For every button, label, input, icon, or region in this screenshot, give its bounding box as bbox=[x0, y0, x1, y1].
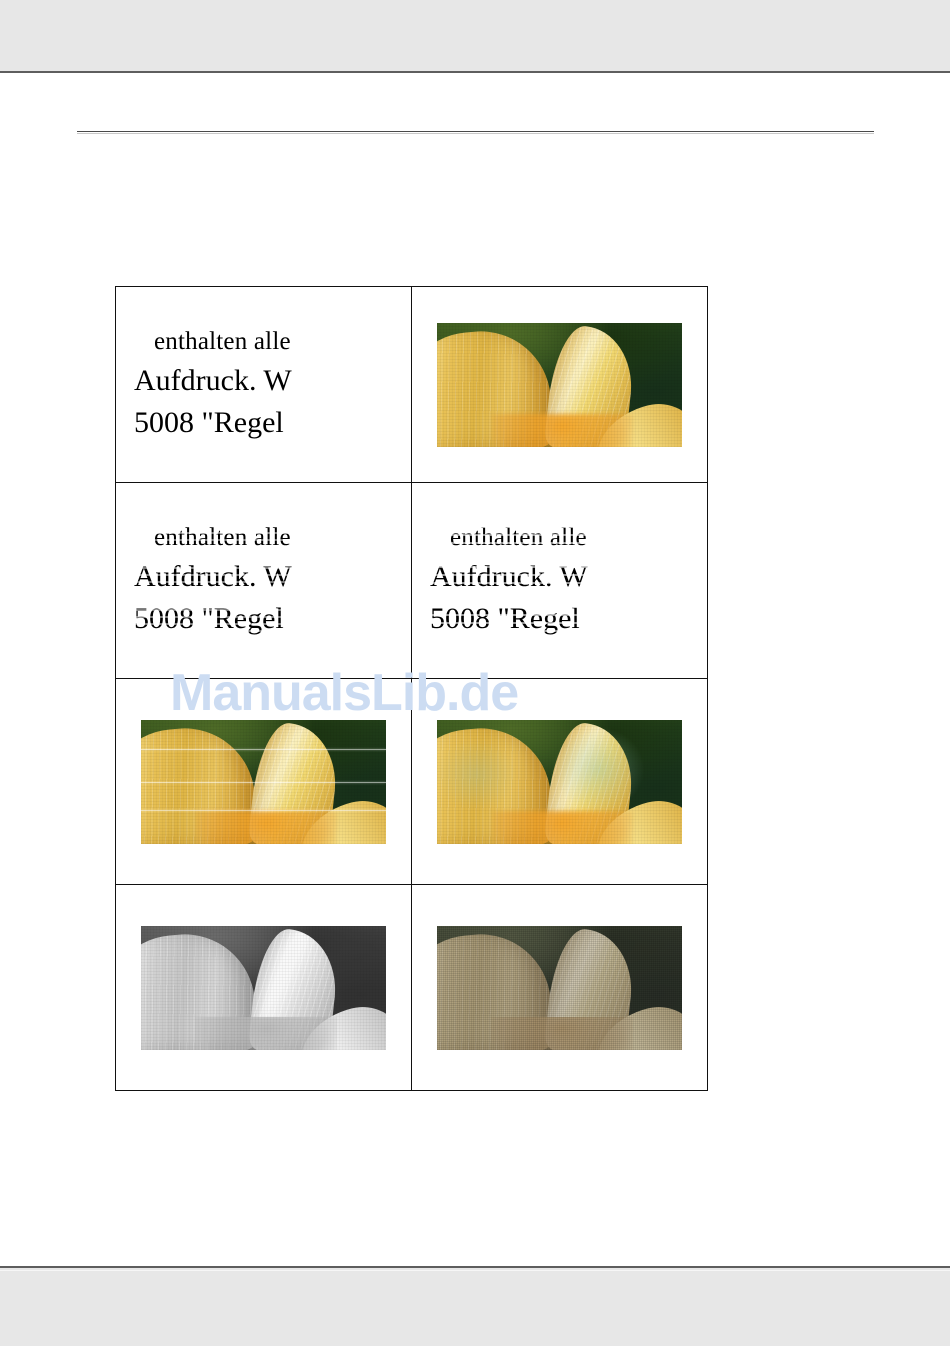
text-sample-line-1: enthalten alle bbox=[134, 520, 411, 556]
text-sample-normal: enthalten alle Aufdruck. W 5008 "Regel bbox=[116, 324, 411, 445]
text-sample-line-1: enthalten alle bbox=[134, 324, 411, 360]
cell-photo-grayscale bbox=[116, 885, 412, 1091]
flower-photo-desaturated bbox=[437, 926, 682, 1050]
viewer-top-band bbox=[0, 0, 950, 73]
table-row: enthalten alle Aufdruck. W 5008 "Regel e… bbox=[116, 483, 708, 679]
photo-grain-overlay bbox=[437, 926, 682, 1050]
text-sample-line-3: 5008 "Regel bbox=[430, 598, 707, 641]
cell-photo-desaturated bbox=[412, 885, 708, 1091]
photo-grain-overlay bbox=[437, 323, 682, 447]
flower-photo-monochrome bbox=[141, 926, 386, 1050]
document-page: enthalten alle Aufdruck. W 5008 "Regel bbox=[0, 73, 950, 1266]
cell-text-worn-left: enthalten alle Aufdruck. W 5008 "Regel bbox=[116, 483, 412, 679]
text-sample-line-2: Aufdruck. W bbox=[134, 556, 411, 599]
table-row bbox=[116, 679, 708, 885]
flower-photo-color-halo bbox=[437, 720, 682, 844]
page-header-rule bbox=[77, 131, 874, 132]
text-sample-line-3: 5008 "Regel bbox=[134, 598, 411, 641]
cell-text-reference: enthalten alle Aufdruck. W 5008 "Regel bbox=[116, 287, 412, 483]
text-sample-line-2: Aufdruck. W bbox=[134, 360, 411, 403]
flower-photo-normal bbox=[437, 323, 682, 447]
print-quality-sample-table: enthalten alle Aufdruck. W 5008 "Regel bbox=[115, 286, 708, 1091]
cell-photo-halo bbox=[412, 679, 708, 885]
table-row bbox=[116, 885, 708, 1091]
text-sample-worn-left: enthalten alle Aufdruck. W 5008 "Regel bbox=[116, 520, 411, 641]
table-row: enthalten alle Aufdruck. W 5008 "Regel bbox=[116, 287, 708, 483]
flower-photo-white-lines bbox=[141, 720, 386, 844]
text-sample-line-2: Aufdruck. W bbox=[430, 556, 707, 599]
photo-grain-overlay bbox=[141, 720, 386, 844]
cell-text-worn-right: enthalten alle Aufdruck. W 5008 "Regel bbox=[412, 483, 708, 679]
text-sample-line-3: 5008 "Regel bbox=[134, 402, 411, 445]
cell-photo-reference bbox=[412, 287, 708, 483]
viewer-bottom-band bbox=[0, 1266, 950, 1346]
text-sample-worn-right: enthalten alle Aufdruck. W 5008 "Regel bbox=[412, 520, 707, 641]
text-sample-line-1: enthalten alle bbox=[430, 520, 707, 556]
cell-photo-streaks bbox=[116, 679, 412, 885]
photo-grain-overlay bbox=[437, 720, 682, 844]
photo-grain-overlay bbox=[141, 926, 386, 1050]
